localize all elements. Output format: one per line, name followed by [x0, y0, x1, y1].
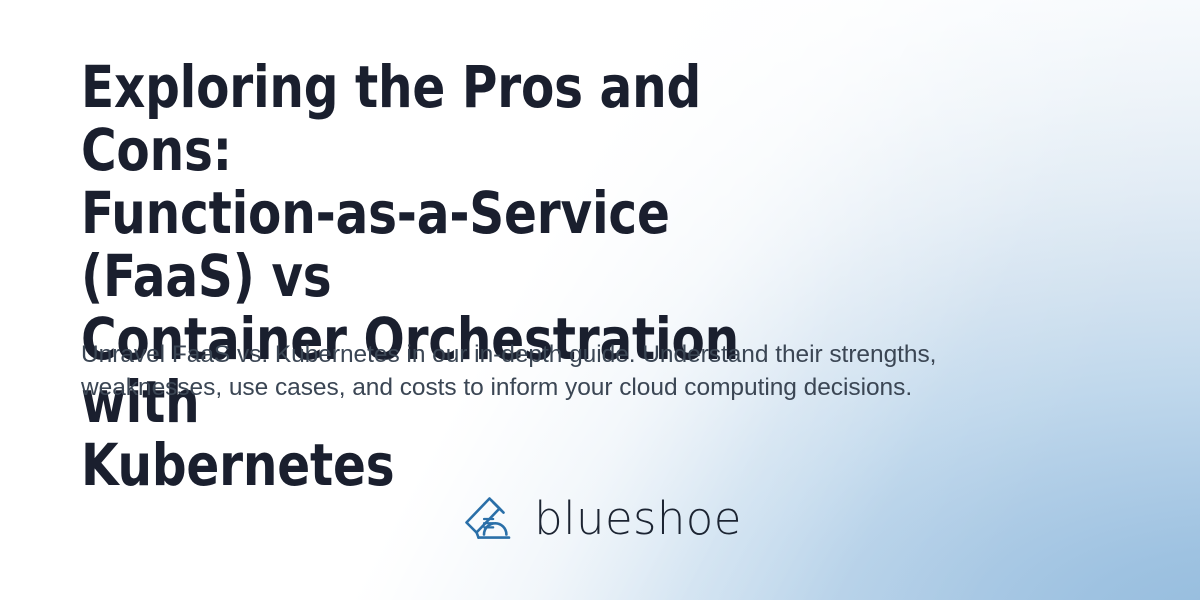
- brand-wordmark: blueshoe: [534, 496, 742, 541]
- card-content: Exploring the Pros and Cons: Function-as…: [0, 0, 1200, 600]
- brand-logo-lockup: blueshoe: [0, 484, 1200, 554]
- social-card-canvas: Exploring the Pros and Cons: Function-as…: [0, 0, 1200, 600]
- page-subtitle: Unravel FaaS vs. Kubernetes in our in-de…: [81, 339, 1053, 404]
- shoe-icon: [458, 489, 518, 549]
- page-title: Exploring the Pros and Cons: Function-as…: [81, 56, 769, 497]
